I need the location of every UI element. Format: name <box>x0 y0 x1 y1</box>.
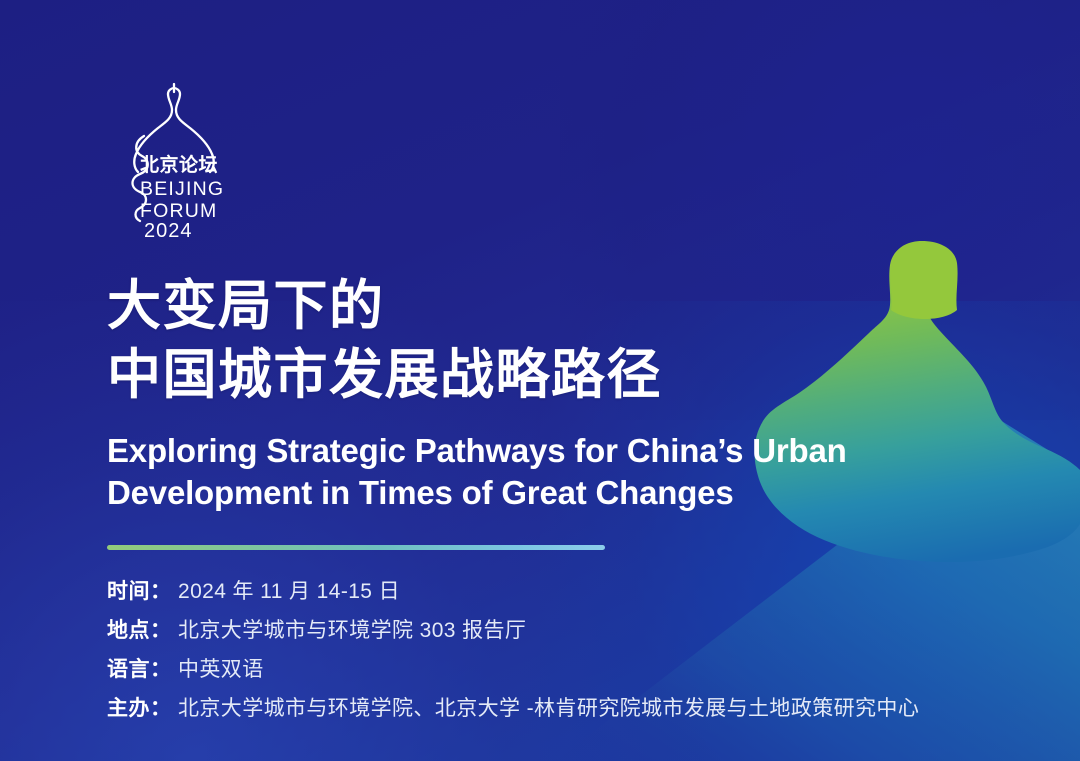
detail-value-language: 中英双语 <box>178 653 264 683</box>
detail-row-organizer: 主办 ： 北京大学城市与环境学院、北京大学 -林肯研究院城市发展与土地政策研究中… <box>107 692 907 722</box>
detail-row-language: 语言 ： 中英双语 <box>107 653 907 683</box>
detail-colon-time: ： <box>150 575 171 605</box>
logo-text-cn: 北京论坛 <box>140 153 218 176</box>
detail-colon-language: ： <box>150 653 171 683</box>
logo-text-beijing: BEIJING <box>140 178 224 200</box>
detail-label-venue: 地点 <box>107 614 150 644</box>
gradient-divider <box>107 545 605 550</box>
content-block: 大变局下的 中国城市发展战略路径 Exploring Strategic Pat… <box>107 272 907 722</box>
page-title-cn: 大变局下的 中国城市发展战略路径 <box>107 272 907 410</box>
detail-row-venue: 地点 ： 北京大学城市与环境学院 303 报告厅 <box>107 614 907 644</box>
detail-colon-organizer: ： <box>150 692 171 722</box>
title-cn-line1: 大变局下的 <box>107 276 385 336</box>
logo-text-forum: FORUM <box>140 200 218 222</box>
detail-value-time: 2024 年 11 月 14-15 日 <box>178 575 400 605</box>
poster-canvas: 北京论坛 BEIJING FORUM 2024 大变局下的 中国城市发展战略路径… <box>0 0 1080 761</box>
detail-row-time: 时间 ： 2024 年 11 月 14-15 日 <box>107 575 907 605</box>
detail-colon-venue: ： <box>150 614 171 644</box>
event-details-list: 时间 ： 2024 年 11 月 14-15 日 地点 ： 北京大学城市与环境学… <box>107 575 907 722</box>
detail-value-organizer: 北京大学城市与环境学院、北京大学 -林肯研究院城市发展与土地政策研究中心 <box>178 692 919 722</box>
detail-value-venue: 北京大学城市与环境学院 303 报告厅 <box>178 614 526 644</box>
detail-label-time: 时间 <box>107 575 150 605</box>
title-en-line2: Development in Times of Great Changes <box>107 472 897 514</box>
beijing-forum-logo: 北京论坛 BEIJING FORUM 2024 <box>104 78 244 238</box>
title-en-line1: Exploring Strategic Pathways for China’s… <box>107 430 897 472</box>
detail-label-language: 语言 <box>107 653 150 683</box>
logo-text-year: 2024 <box>144 220 193 238</box>
page-subtitle-en: Exploring Strategic Pathways for China’s… <box>107 430 897 514</box>
detail-label-organizer: 主办 <box>107 692 150 722</box>
title-cn-line2: 中国城市发展战略路径 <box>107 341 907 410</box>
